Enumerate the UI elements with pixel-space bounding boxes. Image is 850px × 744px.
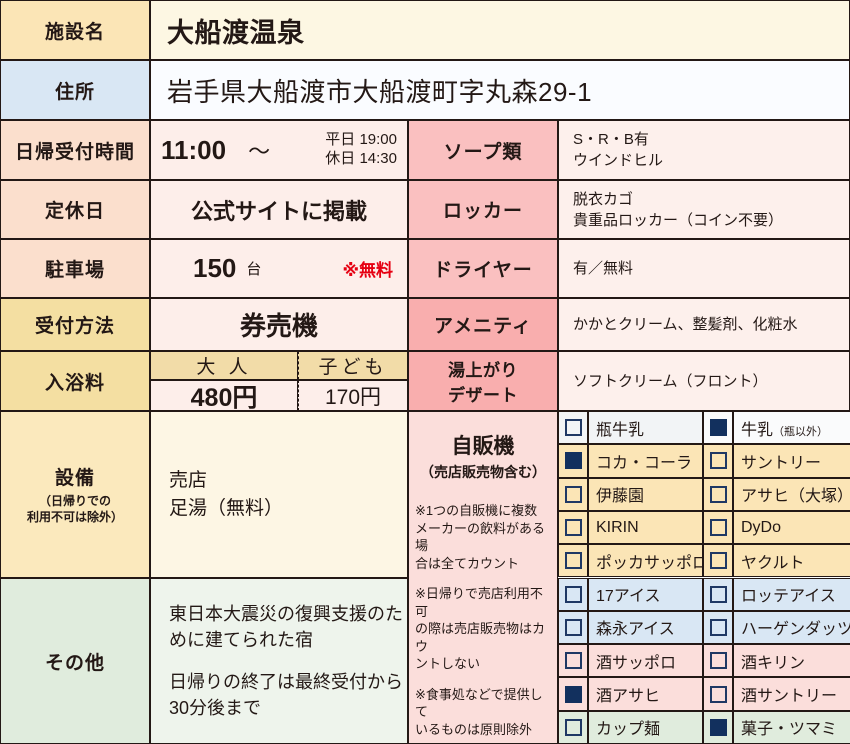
- label-reception-method: 受付方法: [0, 298, 150, 351]
- label-other: その他: [0, 578, 150, 744]
- checkbox-label-r9: 菓子・ツマミ: [733, 711, 850, 744]
- label-bathing-fee: 入浴料: [0, 351, 150, 411]
- checkbox-label-suffix: （瓶以外）: [773, 426, 828, 438]
- hours-tilde: ～: [248, 134, 270, 166]
- value-soap: S・R・B有 ウインドヒル: [558, 120, 850, 180]
- checkbox-r0[interactable]: [703, 411, 733, 444]
- closed-days-value-text: 公式サイトに掲載: [191, 194, 367, 226]
- value-reception-method: 券売機: [150, 298, 408, 351]
- parking-label-text: 駐車場: [45, 255, 105, 282]
- locker-label-text: ロッカー: [443, 196, 523, 223]
- unchecked-box-icon[interactable]: [565, 586, 582, 603]
- label-locker: ロッカー: [408, 180, 558, 239]
- checkbox-label-l7: 酒サッポロ: [588, 644, 703, 677]
- checkbox-label-r7: 酒キリン: [733, 644, 850, 677]
- other-note2-line1: 日帰りの終了は最終受付から: [169, 669, 403, 695]
- checkbox-label-r0: 牛乳（瓶以外）: [733, 411, 850, 444]
- label-amenity: アメニティ: [408, 298, 558, 351]
- label-post-bath-dessert: 湯上がり デザート: [408, 351, 558, 411]
- checkbox-r8[interactable]: [703, 677, 733, 710]
- checkbox-label-l1: コカ・コーラ: [588, 444, 703, 477]
- equipment-sublabel-line2: 利用不可は除外）: [27, 510, 123, 526]
- checkbox-label-r6: ハーゲンダッツ: [733, 611, 850, 644]
- checkbox-label-text: 酒サッポロ: [596, 649, 676, 673]
- value-address: 岩手県大船渡市大船渡町字丸森29-1: [150, 60, 850, 120]
- equipment-item-shop: 売店: [169, 467, 207, 495]
- checkbox-l6[interactable]: [558, 611, 588, 644]
- checkbox-label-text: 森永アイス: [596, 615, 675, 639]
- checkbox-label-text: 瓶牛乳: [596, 416, 644, 440]
- checkbox-label-text: サントリー: [741, 449, 821, 473]
- dessert-value-text: ソフトクリーム（フロント）: [573, 371, 768, 392]
- checkbox-l7[interactable]: [558, 644, 588, 677]
- checkbox-r9[interactable]: [703, 711, 733, 744]
- dessert-label-line2: デザート: [448, 381, 518, 406]
- unchecked-box-icon[interactable]: [710, 652, 727, 669]
- checkbox-l9[interactable]: [558, 711, 588, 744]
- equipment-item-footbath: 足湯（無料）: [169, 495, 283, 523]
- unchecked-box-icon[interactable]: [710, 619, 727, 636]
- amenity-value-text: かかとクリーム、整髪剤、化粧水: [573, 314, 798, 335]
- checkbox-label-r3: DyDo: [733, 511, 850, 544]
- other-note1-line1: 東日本大震災の復興支援のた: [169, 601, 403, 627]
- label-vending-machine: 自販機 （売店販売物含む） ※1つの自販機に複数 メーカーの飲料がある場 合は全…: [408, 411, 558, 744]
- vending-note3-line1: ※食事処などで提供して: [415, 686, 551, 721]
- facility-name-label-text: 施設名: [45, 17, 105, 44]
- amenity-label-text: アメニティ: [434, 311, 532, 338]
- equipment-sublabel-line1: （日帰りでの: [39, 494, 111, 510]
- closed-days-label-text: 定休日: [45, 196, 105, 223]
- vending-note2-line1: ※日帰りで売店利用不可: [415, 585, 551, 620]
- unchecked-box-icon[interactable]: [710, 686, 727, 703]
- checkbox-l8[interactable]: [558, 677, 588, 710]
- checkbox-r5[interactable]: [703, 578, 733, 611]
- vending-title: 自販機: [415, 430, 551, 460]
- value-facility-name: 大船渡温泉: [150, 0, 850, 60]
- soap-line2: ウインドヒル: [573, 150, 663, 171]
- checkbox-r4[interactable]: [703, 544, 733, 577]
- hours-open-time: 11:00: [161, 135, 226, 166]
- checkbox-r6[interactable]: [703, 611, 733, 644]
- label-parking: 駐車場: [0, 239, 150, 298]
- label-daytrip-hours: 日帰受付時間: [0, 120, 150, 180]
- label-equipment: 設備 （日帰りでの 利用不可は除外）: [0, 411, 150, 578]
- unchecked-box-icon[interactable]: [565, 652, 582, 669]
- facility-name-value-text: 大船渡温泉: [167, 11, 305, 50]
- value-locker: 脱衣カゴ 貴重品ロッカー（コイン不要）: [558, 180, 850, 239]
- checkbox-label-r8: 酒サントリー: [733, 677, 850, 710]
- hours-holiday-close: 休日 14:30: [325, 150, 397, 169]
- unchecked-box-icon[interactable]: [710, 552, 727, 569]
- checkbox-l4[interactable]: [558, 544, 588, 577]
- checked-box-icon[interactable]: [710, 719, 727, 736]
- checkbox-label-text: 菓子・ツマミ: [741, 715, 837, 739]
- unchecked-box-icon[interactable]: [565, 619, 582, 636]
- bathing-fee-label-text: 入浴料: [45, 368, 105, 395]
- value-other: 東日本大震災の復興支援のた めに建てられた宿 日帰りの終了は最終受付から 30分…: [150, 578, 408, 744]
- checkbox-label-text: ヤクルト: [741, 549, 805, 573]
- value-post-bath-dessert: ソフトクリーム（フロント）: [558, 351, 850, 411]
- locker-line1: 脱衣カゴ: [573, 189, 633, 210]
- other-note1-line2: めに建てられた宿: [169, 627, 313, 653]
- fee-adult-value-text: 480円: [191, 380, 258, 411]
- parking-unit-text: 台: [246, 258, 261, 279]
- checkbox-label-l2: 伊藤園: [588, 478, 703, 511]
- unchecked-box-icon[interactable]: [710, 519, 727, 536]
- value-amenity: かかとクリーム、整髪剤、化粧水: [558, 298, 850, 351]
- unchecked-box-icon[interactable]: [710, 452, 727, 469]
- other-note2-line2: 30分後まで: [169, 695, 261, 721]
- parking-free-badge: ※無料: [342, 256, 393, 281]
- daytrip-hours-label-text: 日帰受付時間: [15, 137, 135, 164]
- hours-weekday-close: 平日 19:00: [325, 131, 397, 150]
- checkbox-label-text: ハーゲンダッツ: [741, 615, 850, 639]
- vending-note2-line2: の際は売店販売物はカウ: [415, 620, 551, 655]
- checkbox-label-text: ポッカサッポロ: [596, 549, 702, 573]
- value-equipment: 売店 足湯（無料）: [150, 411, 408, 578]
- address-value-text: 岩手県大船渡市大船渡町字丸森29-1: [167, 72, 592, 109]
- checkbox-label-l5: 17アイス: [588, 578, 703, 611]
- checkbox-label-l6: 森永アイス: [588, 611, 703, 644]
- address-label-text: 住所: [55, 77, 95, 104]
- unchecked-box-icon[interactable]: [565, 719, 582, 736]
- checkbox-label-text: 伊藤園: [596, 482, 644, 506]
- checkbox-label-text: 牛乳（瓶以外）: [741, 416, 828, 440]
- checkbox-label-text: ロッテアイス: [741, 582, 836, 606]
- checkbox-label-text: コカ・コーラ: [596, 449, 692, 473]
- dryer-label-text: ドライヤー: [433, 255, 532, 282]
- dryer-value-text: 有／無料: [573, 258, 633, 279]
- value-daytrip-hours: 11:00 ～ 平日 19:00 休日 14:30: [150, 120, 408, 180]
- checkbox-label-text: 酒キリン: [741, 649, 805, 673]
- vending-note1-line2: メーカーの飲料がある場: [415, 520, 551, 555]
- fee-child-header-text: 子ども: [318, 352, 387, 379]
- dessert-label-line1: 湯上がり: [448, 356, 518, 381]
- label-address: 住所: [0, 60, 150, 120]
- checkbox-label-l9: カップ麺: [588, 711, 703, 744]
- vending-note3-line2: いるものは原則除外: [415, 721, 551, 739]
- checkbox-label-r1: サントリー: [733, 444, 850, 477]
- vending-note1-line1: ※1つの自販機に複数: [415, 502, 551, 520]
- checkbox-l3[interactable]: [558, 511, 588, 544]
- checkbox-label-l4: ポッカサッポロ: [588, 544, 703, 577]
- parking-count-text: 150: [193, 253, 236, 284]
- checkbox-l0[interactable]: [558, 411, 588, 444]
- checkbox-label-r4: ヤクルト: [733, 544, 850, 577]
- checkbox-label-r5: ロッテアイス: [733, 578, 850, 611]
- unchecked-box-icon[interactable]: [565, 519, 582, 536]
- reception-method-value-text: 券売機: [240, 306, 318, 343]
- checkbox-label-text: DyDo: [741, 519, 781, 537]
- soap-line1: S・R・B有: [573, 129, 649, 150]
- value-parking: 150 台 ※無料: [150, 239, 408, 298]
- value-closed-days: 公式サイトに掲載: [150, 180, 408, 239]
- checkbox-label-text: カップ麺: [596, 715, 660, 739]
- label-soap: ソープ類: [408, 120, 558, 180]
- checked-box-icon[interactable]: [565, 452, 582, 469]
- label-dryer: ドライヤー: [408, 239, 558, 298]
- checkbox-r1[interactable]: [703, 444, 733, 477]
- checkbox-label-text: アサヒ（大塚）: [741, 482, 850, 506]
- fee-child-value: 170円: [298, 380, 408, 411]
- checkbox-label-text: 17アイス: [596, 582, 661, 606]
- soap-label-text: ソープ類: [444, 137, 523, 164]
- fee-adult-header: 大 人: [150, 351, 298, 380]
- checked-box-icon[interactable]: [710, 419, 727, 436]
- locker-line2: 貴重品ロッカー（コイン不要）: [573, 210, 783, 231]
- label-closed-days: 定休日: [0, 180, 150, 239]
- vending-subtitle: （売店販売物含む）: [415, 462, 551, 482]
- checkbox-label-l0: 瓶牛乳: [588, 411, 703, 444]
- label-facility-name: 施設名: [0, 0, 150, 60]
- equipment-label-text: 設備: [55, 463, 95, 490]
- unchecked-box-icon[interactable]: [565, 552, 582, 569]
- checked-box-icon[interactable]: [565, 686, 582, 703]
- fee-adult-header-text: 大 人: [196, 352, 251, 379]
- checkbox-label-r2: アサヒ（大塚）: [733, 478, 850, 511]
- other-label-text: その他: [45, 648, 105, 675]
- value-dryer: 有／無料: [558, 239, 850, 298]
- fee-child-header: 子ども: [298, 351, 408, 380]
- unchecked-box-icon[interactable]: [710, 486, 727, 503]
- checkbox-r2[interactable]: [703, 478, 733, 511]
- checkbox-l2[interactable]: [558, 478, 588, 511]
- unchecked-box-icon[interactable]: [565, 419, 582, 436]
- checkbox-label-text: KIRIN: [596, 519, 639, 537]
- reception-method-label-text: 受付方法: [35, 311, 115, 338]
- checkbox-r7[interactable]: [703, 644, 733, 677]
- checkbox-l5[interactable]: [558, 578, 588, 611]
- checkbox-label-l8: 酒アサヒ: [588, 677, 703, 710]
- unchecked-box-icon[interactable]: [710, 586, 727, 603]
- vending-note1-line3: 合は全てカウント: [415, 555, 551, 573]
- facility-info-table: 施設名 大船渡温泉 住所 岩手県大船渡市大船渡町字丸森29-1 日帰受付時間 1…: [0, 0, 850, 744]
- checkbox-label-text: 酒サントリー: [741, 682, 837, 706]
- fee-child-value-text: 170円: [325, 381, 381, 411]
- vending-note2-line3: ントしない: [415, 655, 551, 673]
- fee-adult-value: 480円: [150, 380, 298, 411]
- checkbox-l1[interactable]: [558, 444, 588, 477]
- unchecked-box-icon[interactable]: [565, 486, 582, 503]
- checkbox-r3[interactable]: [703, 511, 733, 544]
- checkbox-label-l3: KIRIN: [588, 511, 703, 544]
- checkbox-label-text: 酒アサヒ: [596, 682, 660, 706]
